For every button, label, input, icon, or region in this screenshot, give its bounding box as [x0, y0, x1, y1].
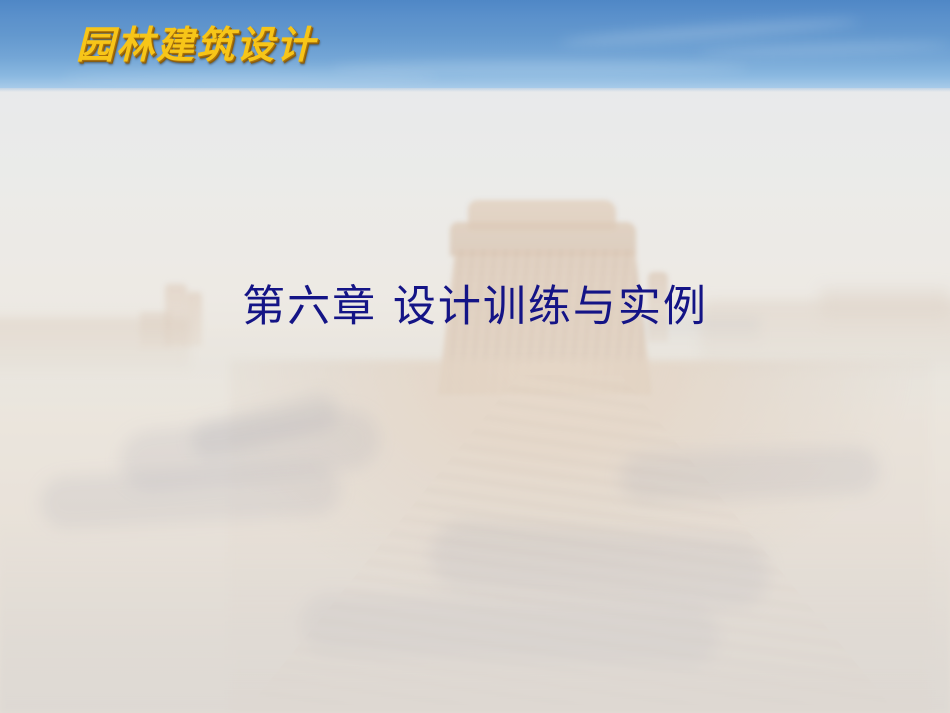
cloud-streak-2: [700, 40, 950, 59]
cloud-streak-4: [60, 70, 440, 84]
foreground-flat: [0, 523, 950, 713]
presentation-slide: 园林建筑设计 第六章 设计训练与实例: [0, 0, 950, 713]
slide-header-banner: 园林建筑设计: [0, 0, 950, 88]
shadow-ridge-5: [619, 445, 881, 502]
course-title: 园林建筑设计: [76, 26, 316, 64]
banner-bottom-edge: [0, 88, 950, 92]
background-photo: [0, 0, 950, 713]
chapter-title: 第六章 设计训练与实例: [0, 283, 950, 332]
